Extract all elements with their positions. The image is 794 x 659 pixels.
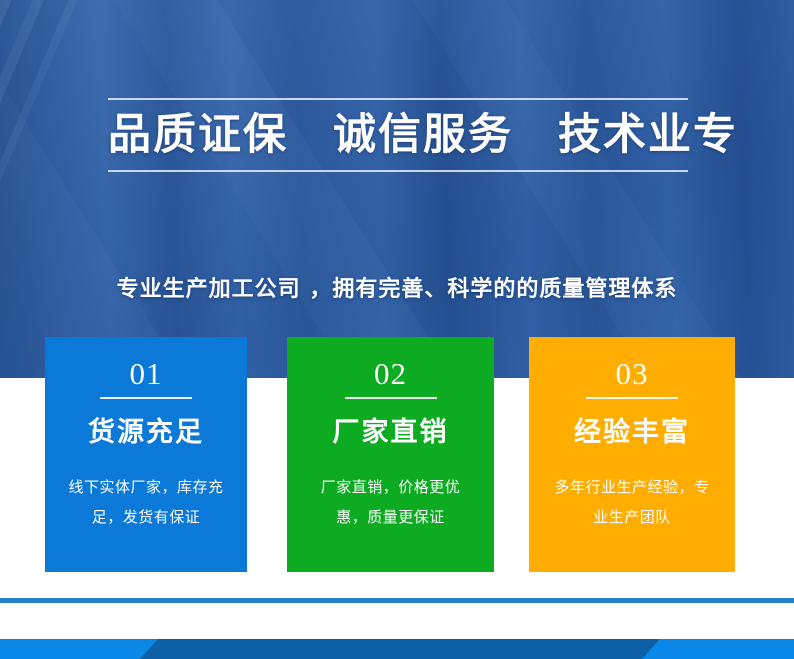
subheadline-text: 专业生产加工公司 ，拥有完善、科学的的质量管理体系 xyxy=(0,271,794,303)
feature-card-description: 线下实体厂家，库存充足，发货有保证 xyxy=(62,472,230,532)
bottom-band xyxy=(0,639,794,659)
feature-card-number-rule xyxy=(100,397,192,399)
bottom-band-inner-shape xyxy=(140,639,660,659)
feature-card-01[interactable]: 01 货源充足 线下实体厂家，库存充足，发货有保证 xyxy=(45,337,247,572)
headline-rule-bottom xyxy=(108,170,688,172)
feature-card-number-rule xyxy=(345,397,437,399)
feature-card-number: 03 xyxy=(529,357,735,391)
promo-banner-page: 品质证保 诚信服务 技术业专 专业生产加工公司 ，拥有完善、科学的的质量管理体系… xyxy=(0,0,794,659)
hero-banner xyxy=(0,0,794,378)
feature-cards: 01 货源充足 线下实体厂家，库存充足，发货有保证 02 厂家直销 厂家直销，价… xyxy=(0,337,794,572)
feature-card-02[interactable]: 02 厂家直销 厂家直销，价格更优惠，质量更保证 xyxy=(287,337,494,572)
feature-card-03[interactable]: 03 经验丰富 多年行业生产经验，专业生产团队 xyxy=(529,337,735,572)
feature-card-title: 经验丰富 xyxy=(529,416,735,450)
feature-card-title: 厂家直销 xyxy=(287,416,494,450)
hero-blue-tint-overlay xyxy=(0,0,794,378)
feature-card-title: 货源充足 xyxy=(45,416,247,450)
headline-text: 品质证保 诚信服务 技术业专 xyxy=(108,100,688,170)
feature-card-description: 多年行业生产经验，专业生产团队 xyxy=(548,472,716,532)
feature-card-number-rule xyxy=(586,397,678,399)
watermark-lower xyxy=(0,603,794,639)
headline-block: 品质证保 诚信服务 技术业专 xyxy=(108,98,688,172)
feature-card-description: 厂家直销，价格更优惠，质量更保证 xyxy=(307,472,475,532)
feature-card-number: 02 xyxy=(287,357,494,391)
feature-card-number: 01 xyxy=(45,357,247,391)
